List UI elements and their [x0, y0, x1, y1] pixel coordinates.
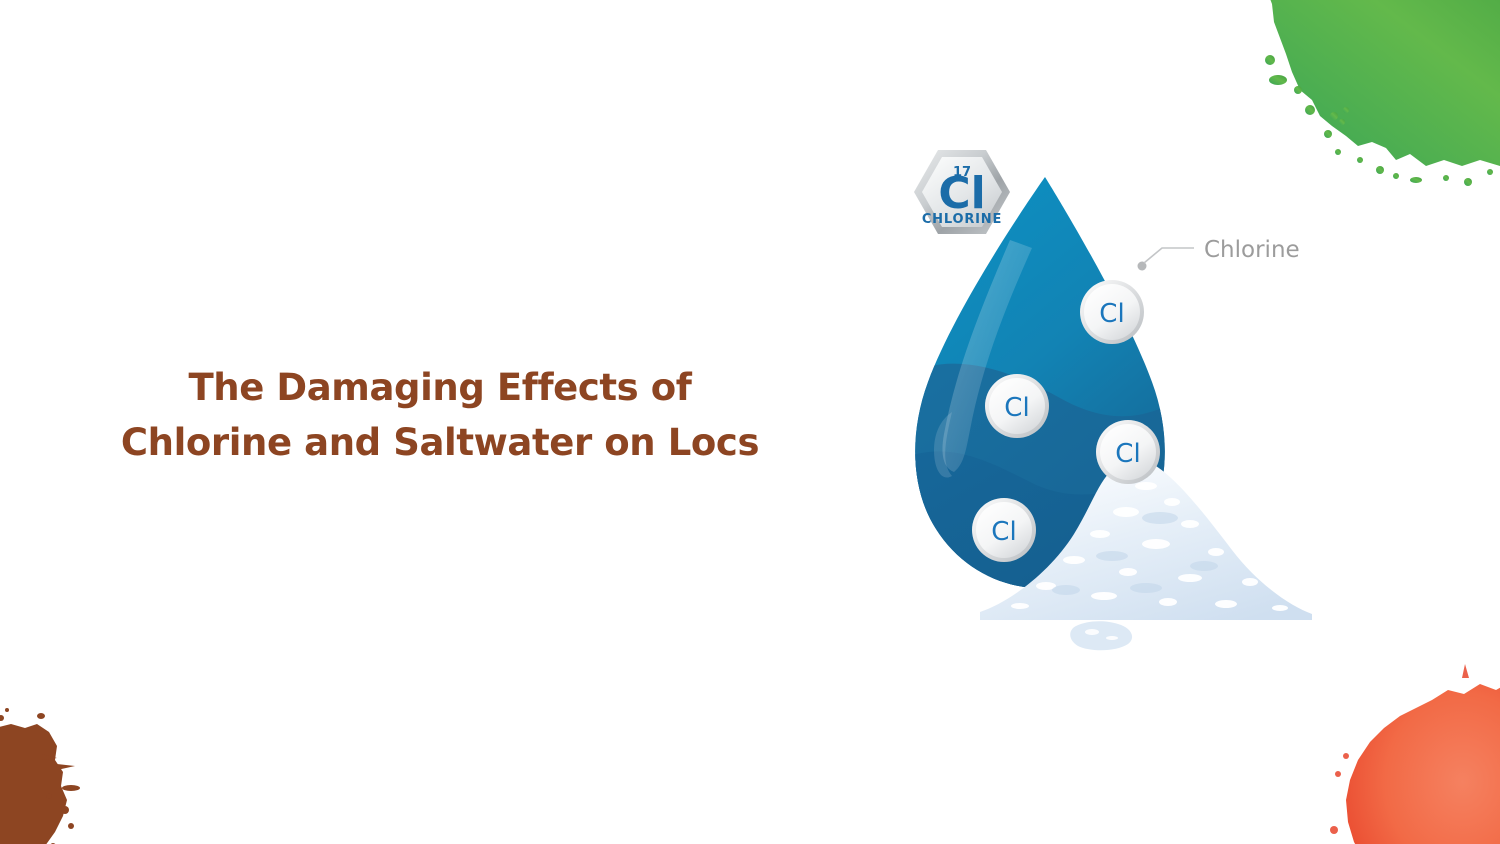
salt-fragment — [1070, 621, 1132, 650]
page-title: The Damaging Effects of Chlorine and Sal… — [0, 360, 880, 470]
brown-splash — [0, 694, 145, 844]
molecule-badge-4: Cl — [972, 498, 1036, 562]
molecule-badge-3: Cl — [1096, 420, 1160, 484]
molecule-label-3: Cl — [1115, 439, 1140, 469]
molecule-badge-2: Cl — [985, 374, 1049, 438]
orange-splash — [1310, 664, 1500, 844]
element-name: CHLORINE — [922, 212, 1002, 227]
callout-label: Chlorine — [1204, 237, 1300, 263]
molecule-label-1: Cl — [1099, 299, 1124, 329]
slide-canvas: The Damaging Effects of Chlorine and Sal… — [0, 0, 1500, 844]
chlorine-callout: Chlorine — [1138, 237, 1300, 271]
title-line-1: The Damaging Effects of — [0, 360, 880, 415]
chlorine-droplet-illustration: Cl Cl Cl Cl 17 Cl — [860, 120, 1380, 690]
title-line-2: Chlorine and Saltwater on Locs — [0, 415, 880, 470]
molecule-label-4: Cl — [991, 517, 1016, 547]
molecule-label-2: Cl — [1004, 393, 1029, 423]
element-badge-hexagon: 17 Cl CHLORINE — [914, 150, 1010, 234]
molecule-badge-1: Cl — [1080, 280, 1144, 344]
callout-line — [1144, 248, 1194, 263]
